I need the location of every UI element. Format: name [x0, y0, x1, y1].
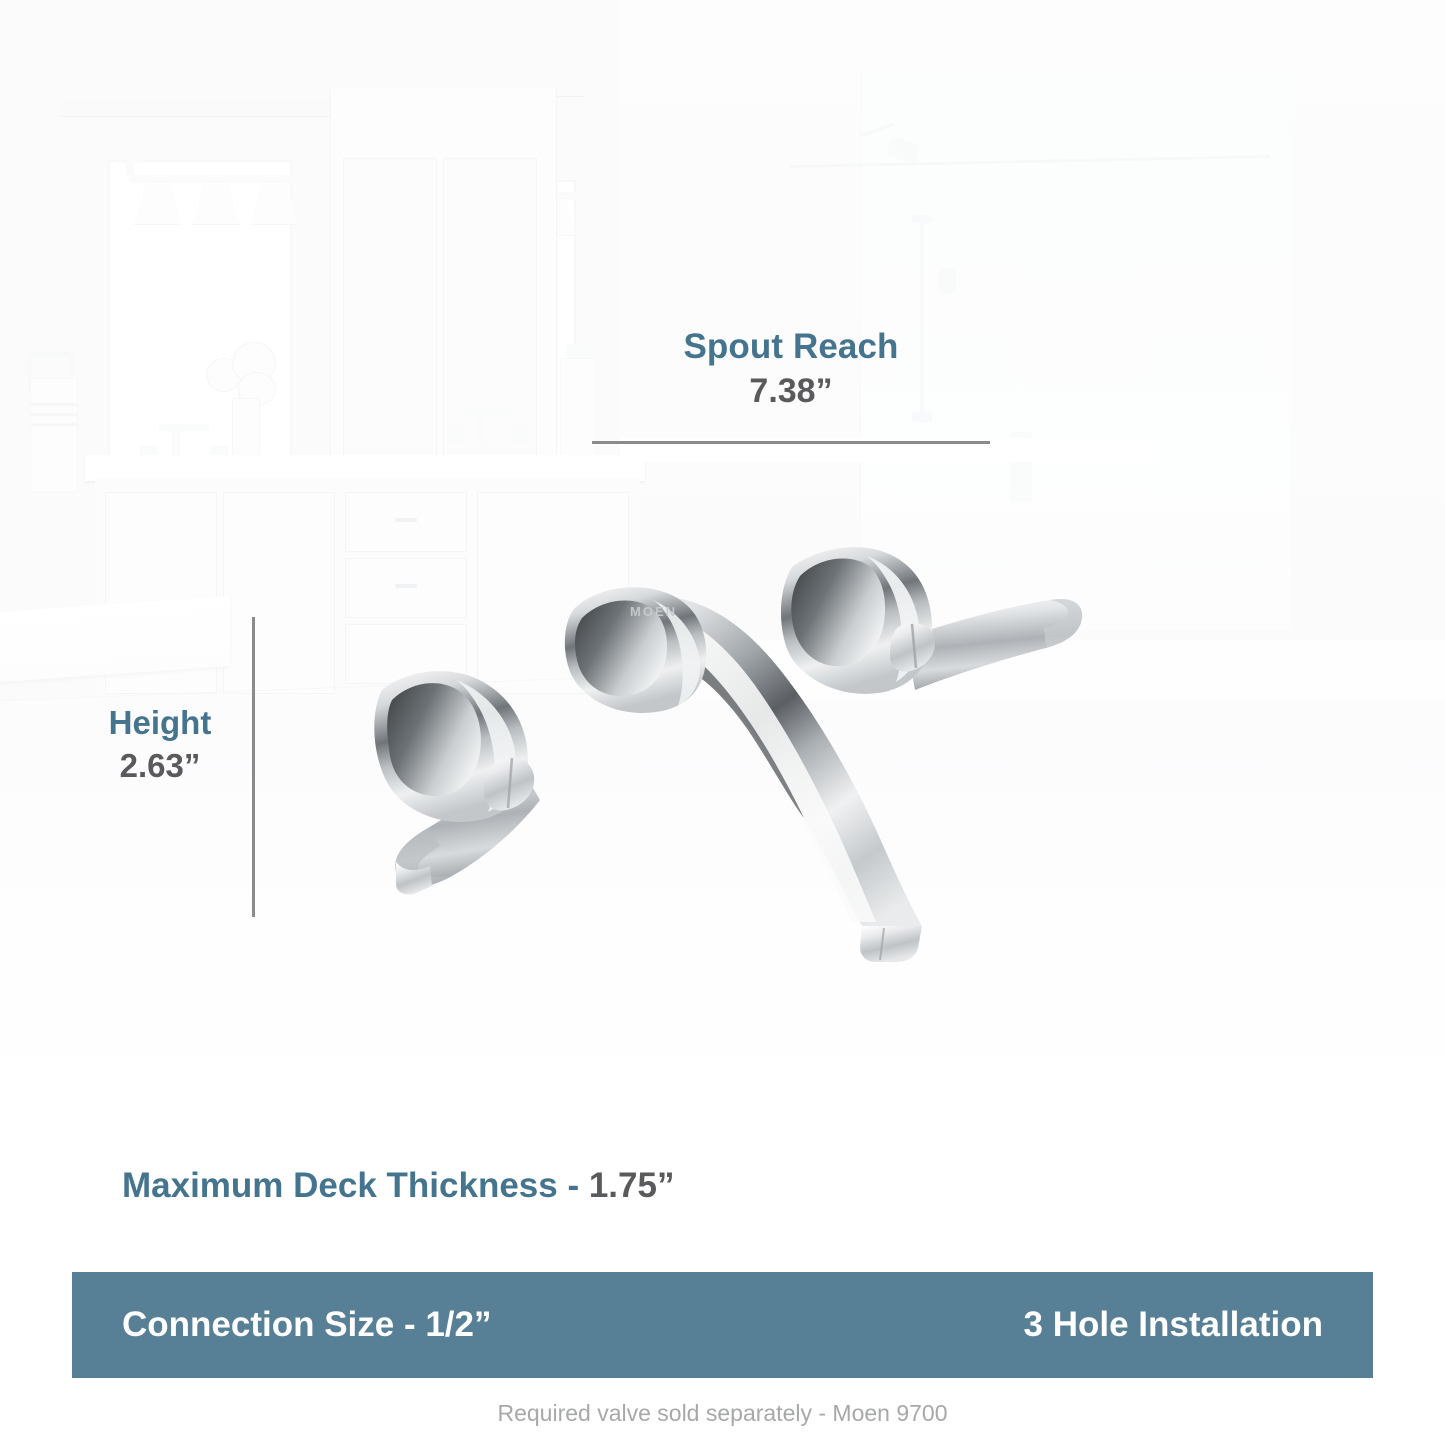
spout-reach-value: 7.38”: [592, 372, 990, 410]
moen-brand-engraving: MOEN: [630, 604, 677, 619]
spout-reach-label: Spout Reach: [592, 327, 990, 366]
faucet-handle-left: [374, 671, 540, 894]
footnote-text: Required valve sold separately - Moen 97…: [0, 1400, 1445, 1427]
height-measurement-line: [252, 617, 255, 917]
deck-thickness-value: 1.75”: [589, 1166, 675, 1205]
connection-size-text: Connection Size - 1/2”: [122, 1305, 492, 1345]
deck-thickness-label: Maximum Deck Thickness -: [122, 1166, 589, 1205]
spec-banner: Connection Size - 1/2” 3 Hole Installati…: [72, 1272, 1373, 1378]
hole-installation-text: 3 Hole Installation: [1024, 1305, 1324, 1345]
height-label: Height: [74, 705, 246, 742]
product-spec-image: MOEN Spout Reach 7.38” Height 2.63” Maxi…: [0, 0, 1445, 1445]
deck-thickness-annotation: Maximum Deck Thickness - 1.75”: [122, 1166, 674, 1206]
spout-reach-measurement-line: [592, 441, 990, 444]
spout-reach-annotation: Spout Reach 7.38”: [592, 327, 990, 410]
faucet-handle-right: [781, 547, 1082, 694]
height-value: 2.63”: [74, 748, 246, 785]
height-annotation: Height 2.63”: [74, 705, 246, 785]
